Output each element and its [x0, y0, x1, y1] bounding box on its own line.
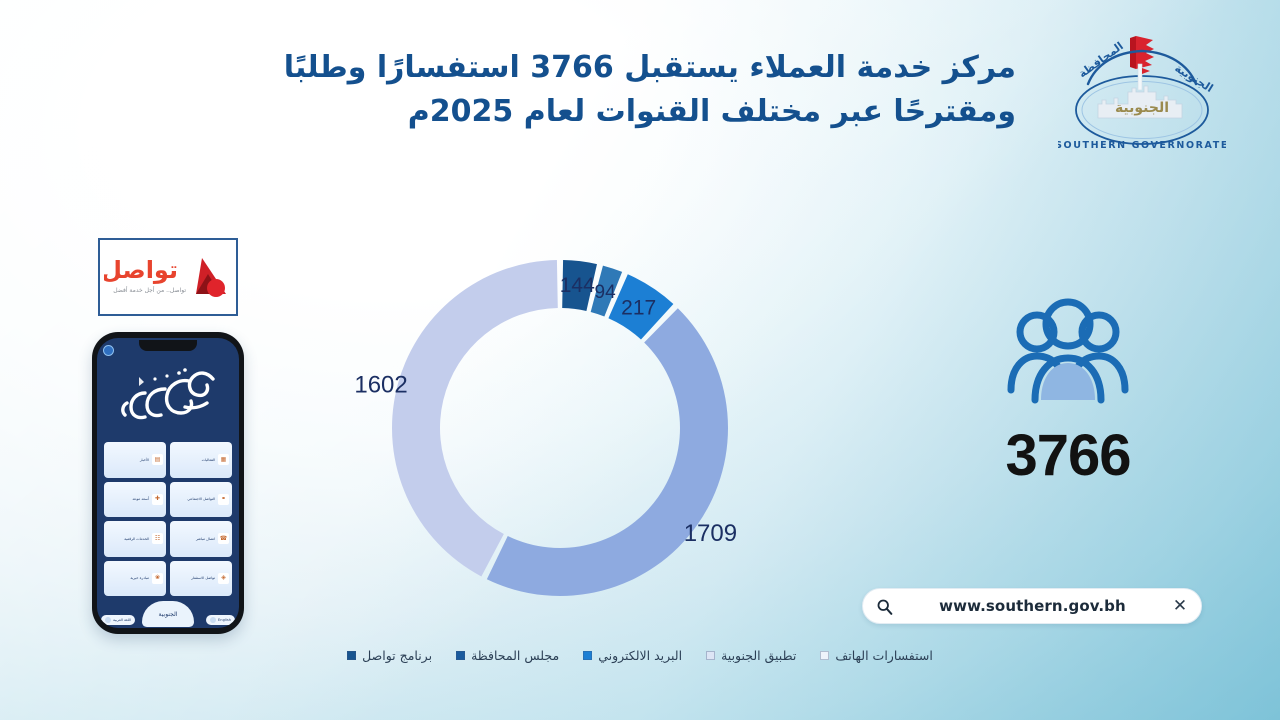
legend-item-tawasul-program[interactable]: برنامج تواصل: [347, 648, 432, 663]
svg-text:الجنوبية: الجنوبية: [1172, 62, 1215, 96]
app-tile-label: الأخبار: [107, 458, 149, 462]
phone-icon: ☎: [218, 533, 229, 544]
legend-item-email[interactable]: البريد الالكتروني: [583, 648, 682, 663]
tawasul-logo: تواصل تواصل.. من أجل خدمة أفضل: [98, 238, 238, 316]
legend-label: مجلس المحافظة: [471, 648, 559, 663]
donut-segments: [392, 260, 728, 596]
url-text: www.southern.gov.bh: [893, 597, 1172, 615]
app-tile[interactable]: ▤ الأخبار: [104, 442, 166, 478]
language-label-en: English: [218, 618, 231, 622]
fort-icon: الجنوبية: [1098, 64, 1182, 118]
title-line-1: مركز خدمة العملاء يستقبل 3766 استفسارًا …: [284, 50, 1016, 85]
legend-swatch: [347, 651, 356, 660]
app-tile[interactable]: ◈ تواصل الاستثمار: [170, 561, 232, 597]
globe-icon: [210, 617, 216, 623]
legend-item-phone-inquiries[interactable]: استفسارات الهاتف: [820, 648, 933, 663]
close-icon[interactable]: ✕: [1172, 598, 1188, 615]
donut-segment-label: 217: [621, 296, 656, 319]
phone-screen: الجنوبية ▦: [97, 338, 239, 628]
svg-text:المحافظة: المحافظة: [1076, 39, 1126, 80]
tawasul-shape-icon: [196, 258, 226, 297]
legend-item-governorate-council[interactable]: مجلس المحافظة: [456, 648, 559, 663]
app-tile-label: مبادرة خيرية: [107, 576, 149, 580]
legend-label: البريد الالكتروني: [598, 648, 682, 663]
kpi-value: 3766: [962, 422, 1174, 489]
legend-swatch: [456, 651, 465, 660]
app-home-button[interactable]: الجنوبية: [142, 601, 194, 627]
tawasul-tagline: تواصل.. من أجل خدمة أفضل: [113, 286, 186, 294]
donut-segment-label: 94: [595, 282, 617, 303]
calendar-icon: ▦: [218, 454, 229, 465]
channels-donut-chart: 1449421717091602: [364, 232, 756, 624]
app-tile-label: تواصل الاستثمار: [173, 576, 215, 580]
language-toggle-english[interactable]: English: [206, 615, 235, 625]
app-tile[interactable]: ❀ مبادرة خيرية: [104, 561, 166, 597]
app-home-label: الجنوبية: [159, 611, 178, 618]
app-avatar[interactable]: [103, 345, 114, 356]
services-icon: ☷: [152, 533, 163, 544]
legend-swatch: [820, 651, 829, 660]
appointment-icon: ✚: [152, 494, 163, 505]
app-tile-grid: ▦ الفعاليات ▤ الأخبار ⚭ التواصل الاجتماع…: [97, 440, 239, 598]
app-tile-label: التواصل الاجتماعي: [173, 497, 215, 501]
app-tile[interactable]: ☷ الخدمات الرقمية: [104, 521, 166, 557]
app-tile[interactable]: ✚ أسعد موعد: [104, 482, 166, 518]
app-tile-label: الخدمات الرقمية: [107, 537, 149, 541]
app-tile-label: الفعاليات: [173, 458, 215, 462]
legend-label: استفسارات الهاتف: [835, 648, 933, 663]
donut-segment-label: 1709: [684, 520, 737, 547]
southern-governorate-logo: الجنوبية المحافظة الجنوبية SOUTHERN GOVE…: [1058, 26, 1226, 160]
search-icon: [876, 598, 893, 615]
legend-swatch: [583, 651, 592, 660]
legend-label: برنامج تواصل: [362, 648, 432, 663]
svg-text:الجنوبية: الجنوبية: [1115, 100, 1169, 116]
donut-segment[interactable]: [487, 308, 728, 596]
app-tile[interactable]: ▦ الفعاليات: [170, 442, 232, 478]
page-title: مركز خدمة العملاء يستقبل 3766 استفسارًا …: [156, 46, 1016, 134]
app-tile[interactable]: ☎ اتصال مباشر: [170, 521, 232, 557]
website-url-bar[interactable]: www.southern.gov.bh ✕: [862, 588, 1202, 624]
donut-segment-label: 144: [560, 274, 595, 297]
app-wordmark: [97, 354, 239, 440]
globe-icon: [105, 617, 111, 623]
investment-icon: ◈: [218, 573, 229, 584]
total-requests-kpi: 3766: [962, 294, 1174, 489]
language-label-ar: اللغة العربية: [113, 618, 131, 622]
chart-legend: استفسارات الهاتف تطبيق الجنوبية البريد ا…: [0, 648, 1280, 663]
news-icon: ▤: [152, 454, 163, 465]
share-icon: ⚭: [218, 494, 229, 505]
legend-swatch: [706, 651, 715, 660]
app-tile-label: أسعد موعد: [107, 497, 149, 501]
legend-item-southern-app[interactable]: تطبيق الجنوبية: [706, 648, 796, 663]
phone-mockup: الجنوبية ▦: [92, 332, 244, 634]
legend-label: تطبيق الجنوبية: [721, 648, 796, 663]
svg-text:SOUTHERN GOVERNORATE: SOUTHERN GOVERNORATE: [1058, 140, 1226, 151]
app-bottom-bar: اللغة العربية الجنوبية English: [97, 598, 239, 628]
app-tile-label: اتصال مباشر: [173, 537, 215, 541]
charity-icon: ❀: [152, 573, 163, 584]
phone-notch: [139, 340, 197, 351]
people-group-icon: [997, 294, 1139, 416]
app-tile[interactable]: ⚭ التواصل الاجتماعي: [170, 482, 232, 518]
language-toggle-arabic[interactable]: اللغة العربية: [101, 615, 135, 625]
donut-segment-label: 1602: [354, 371, 407, 398]
tawasul-wordmark: تواصل: [104, 256, 178, 284]
donut-segment[interactable]: [392, 260, 558, 576]
title-line-2: ومقترحًا عبر مختلف القنوات لعام 2025م: [156, 90, 1016, 134]
